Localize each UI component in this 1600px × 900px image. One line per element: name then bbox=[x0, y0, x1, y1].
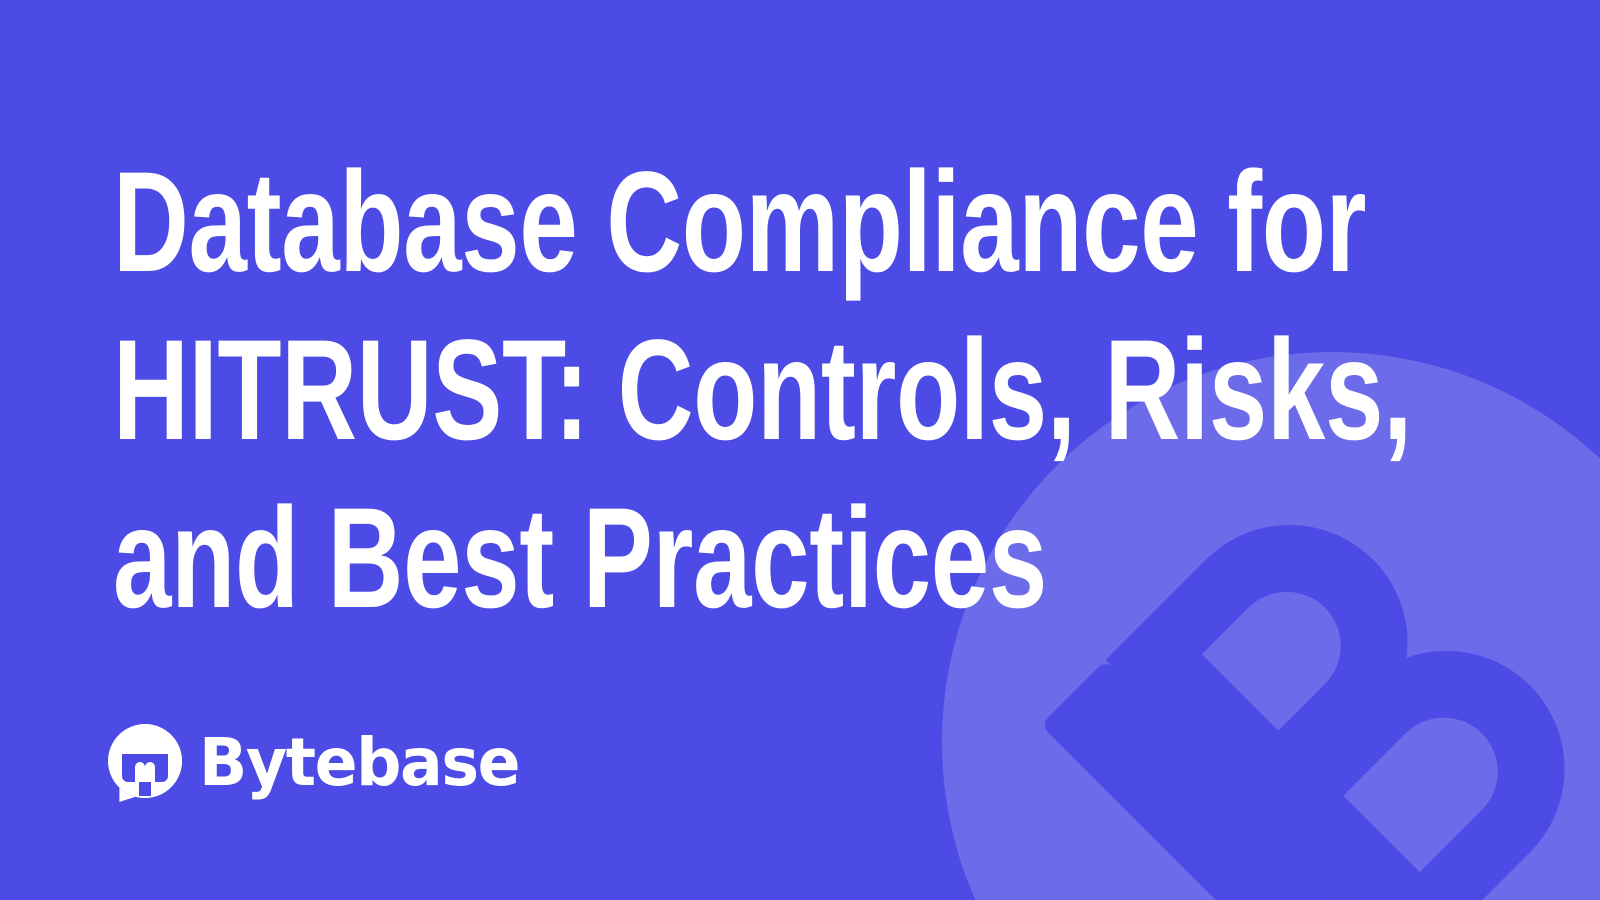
title-line-3: and Best Practices bbox=[113, 475, 1142, 643]
bytebase-logo-icon bbox=[106, 722, 184, 804]
page-title: Database Compliance for HITRUST: Control… bbox=[113, 139, 1513, 643]
title-line-1: Database Compliance for bbox=[113, 139, 1142, 307]
cover-canvas: Database Compliance for HITRUST: Control… bbox=[0, 0, 1600, 900]
brand-logo-lockup[interactable]: Bytebase bbox=[106, 722, 532, 804]
title-line-2: HITRUST: Controls, Risks, bbox=[113, 307, 1142, 475]
bytebase-wordmark: Bytebase bbox=[199, 730, 519, 796]
